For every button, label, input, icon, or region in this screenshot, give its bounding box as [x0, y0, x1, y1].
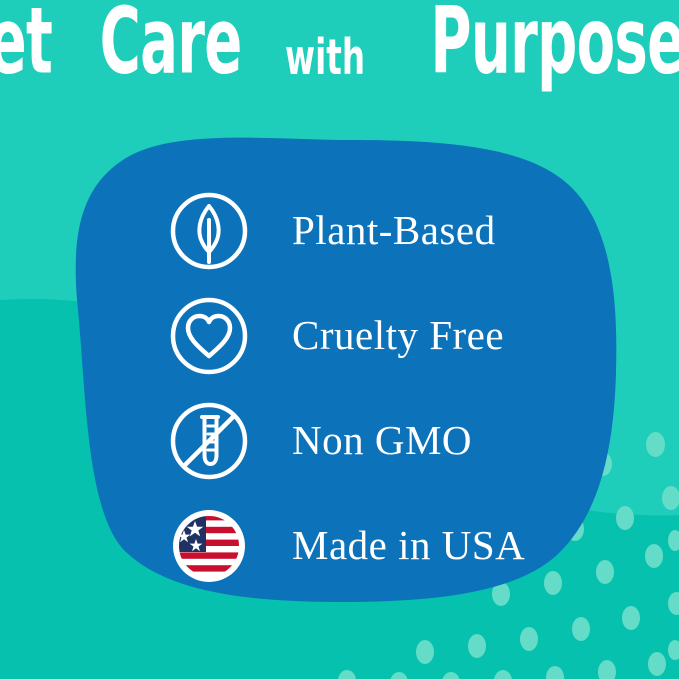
leaf-icon: [168, 190, 250, 272]
badge-label-made-in-usa: Made in USA: [292, 525, 525, 566]
badge-list: Plant-Based Cruelty Free: [168, 178, 588, 598]
badge-row-cruelty-free: Cruelty Free: [168, 283, 588, 388]
badge-row-non-gmo: Non GMO: [168, 388, 588, 493]
title-word-purpose: Purpose: [431, 0, 679, 88]
badge-row-made-in-usa: Made in USA: [168, 493, 588, 598]
no-gmo-test-tube-icon: [168, 400, 250, 482]
page-title: Pet Care with Purpose ®: [0, 10, 679, 115]
badge-label-cruelty-free: Cruelty Free: [292, 315, 504, 356]
title-word-pet: Pet: [0, 0, 52, 88]
title-word-with: with: [285, 34, 365, 83]
usa-flag-circle-icon: [168, 505, 250, 587]
badge-label-non-gmo: Non GMO: [292, 420, 472, 461]
pet-care-with-purpose-graphic: Pet Care with Purpose ® Plant-Based: [0, 0, 679, 679]
badge-label-plant-based: Plant-Based: [292, 210, 496, 251]
title-word-care: Care: [100, 0, 242, 88]
heart-icon: [168, 295, 250, 377]
badge-row-plant-based: Plant-Based: [168, 178, 588, 283]
